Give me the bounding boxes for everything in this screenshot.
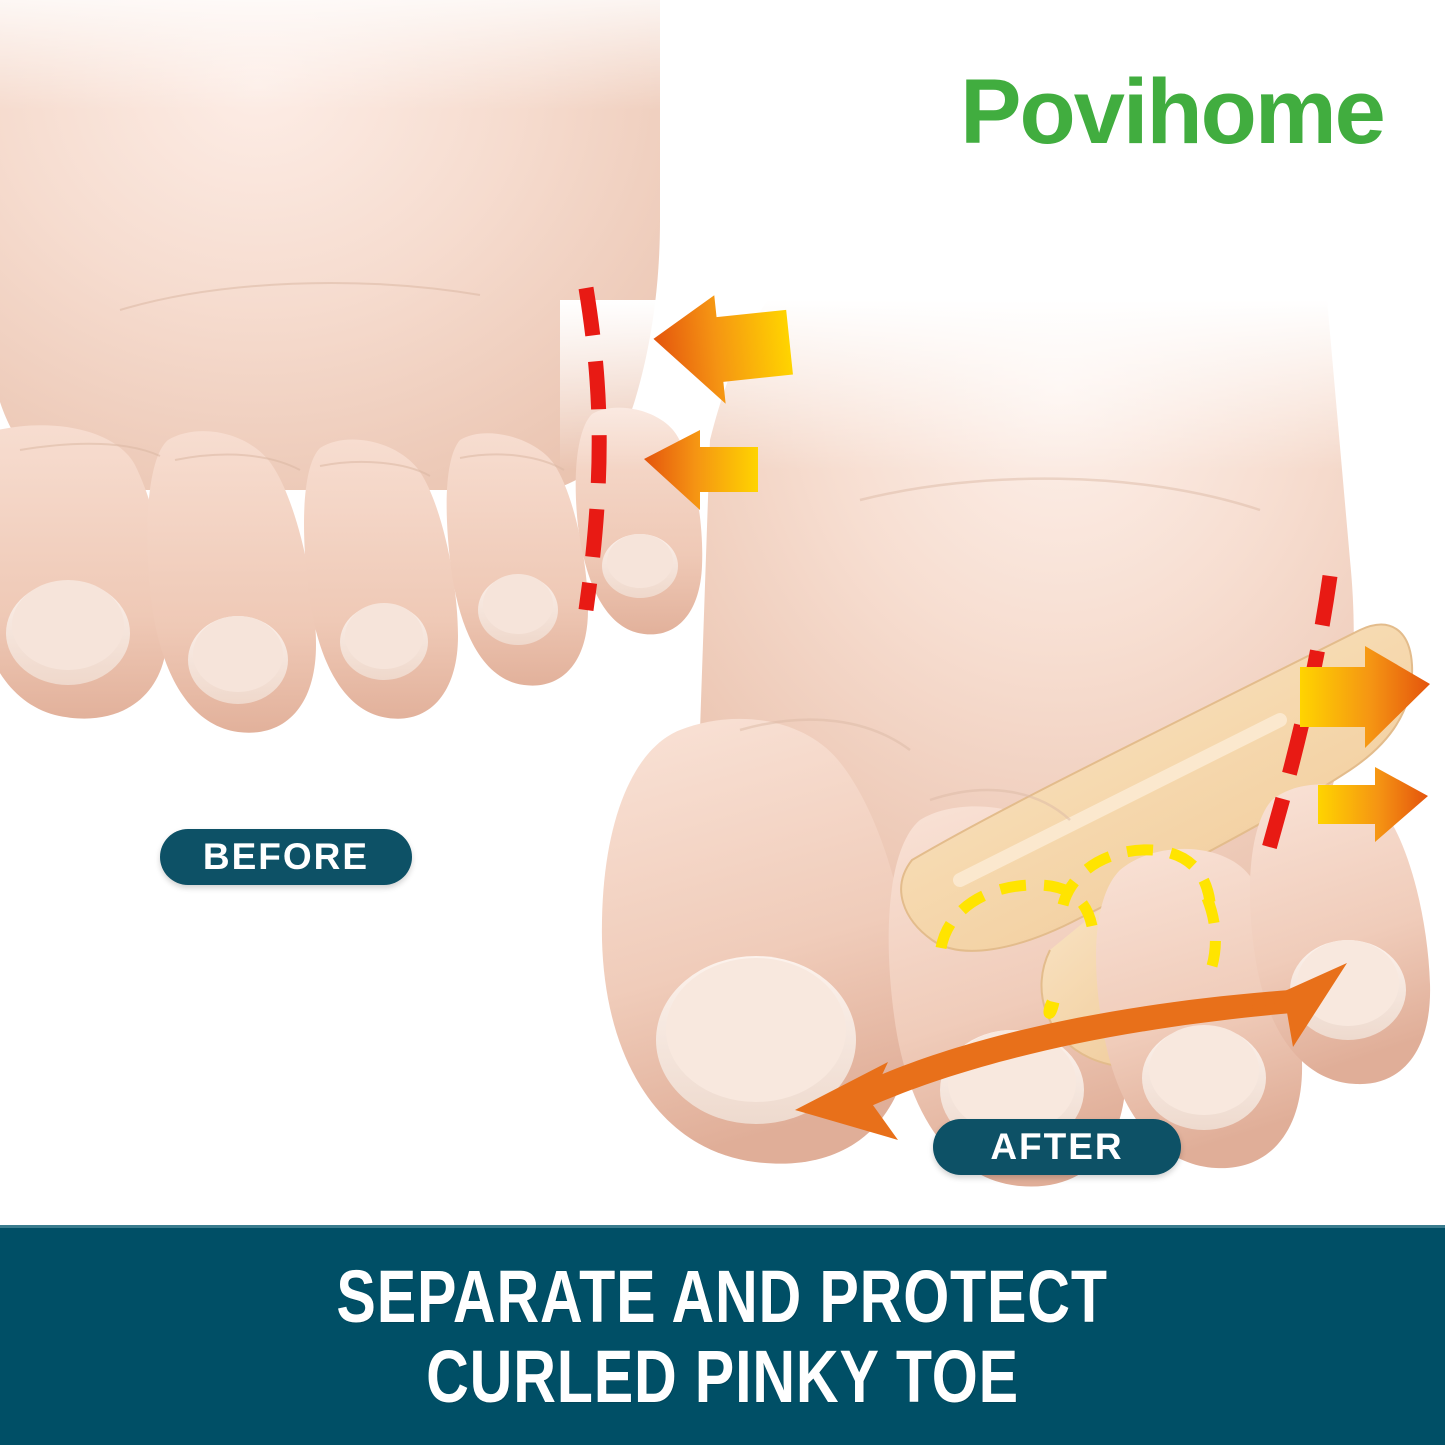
brand-logo: Povihome — [952, 62, 1392, 162]
after-photo — [560, 300, 1445, 1230]
product-marketing-image: Povihome BEFORE AFTER SEPARATE AND PROTE… — [0, 0, 1445, 1445]
after-badge: AFTER — [933, 1119, 1181, 1175]
before-badge: BEFORE — [160, 829, 412, 885]
headline-line-1: SEPARATE AND PROTECT — [337, 1257, 1108, 1337]
headline-line-2: CURLED PINKY TOE — [426, 1337, 1019, 1417]
headline-banner: SEPARATE AND PROTECT CURLED PINKY TOE — [0, 1225, 1445, 1445]
after-foot-illustration — [560, 300, 1445, 1230]
